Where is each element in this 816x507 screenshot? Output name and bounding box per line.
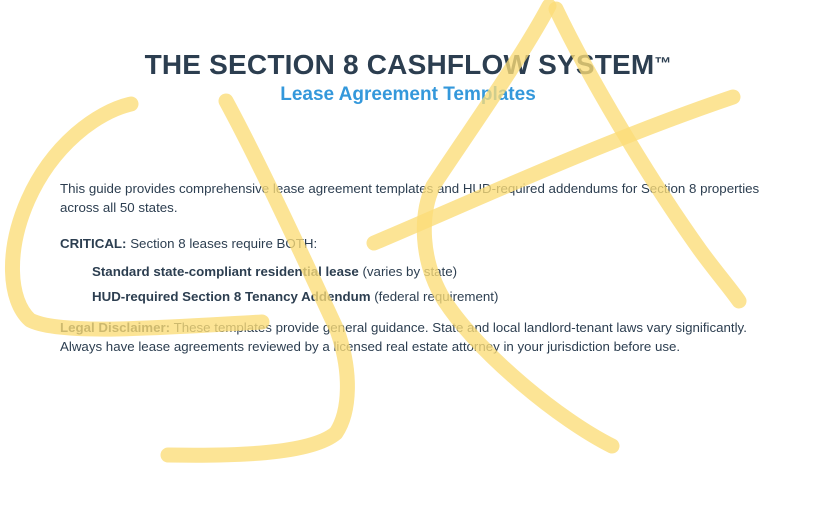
page-title: THE SECTION 8 CASHFLOW SYSTEM™ [0, 48, 816, 81]
critical-notice: CRITICAL: Section 8 leases require BOTH: [60, 235, 786, 254]
legal-disclaimer: Legal Disclaimer: These templates provid… [60, 319, 786, 356]
requirement-item: Standard state-compliant residential lea… [92, 263, 786, 282]
requirement-name: HUD-required Section 8 Tenancy Addendum [92, 289, 371, 304]
requirement-note: (federal requirement) [374, 289, 498, 304]
critical-label: CRITICAL: [60, 236, 126, 251]
requirement-item: HUD-required Section 8 Tenancy Addendum … [92, 288, 786, 307]
requirement-name: Standard state-compliant residential lea… [92, 264, 359, 279]
document-content: THE SECTION 8 CASHFLOW SYSTEM™ Lease Agr… [0, 0, 816, 507]
document-page: THE SECTION 8 CASHFLOW SYSTEM™ Lease Agr… [0, 0, 816, 507]
legal-disclaimer-label: Legal Disclaimer: [60, 320, 170, 335]
intro-paragraph: This guide provides comprehensive lease … [60, 180, 786, 217]
page-title-text: THE SECTION 8 CASHFLOW SYSTEM [145, 49, 655, 80]
critical-text: Section 8 leases require BOTH: [130, 236, 317, 251]
requirement-note: (varies by state) [362, 264, 457, 279]
page-subtitle: Lease Agreement Templates [0, 83, 816, 106]
trademark-symbol: ™ [654, 54, 671, 73]
